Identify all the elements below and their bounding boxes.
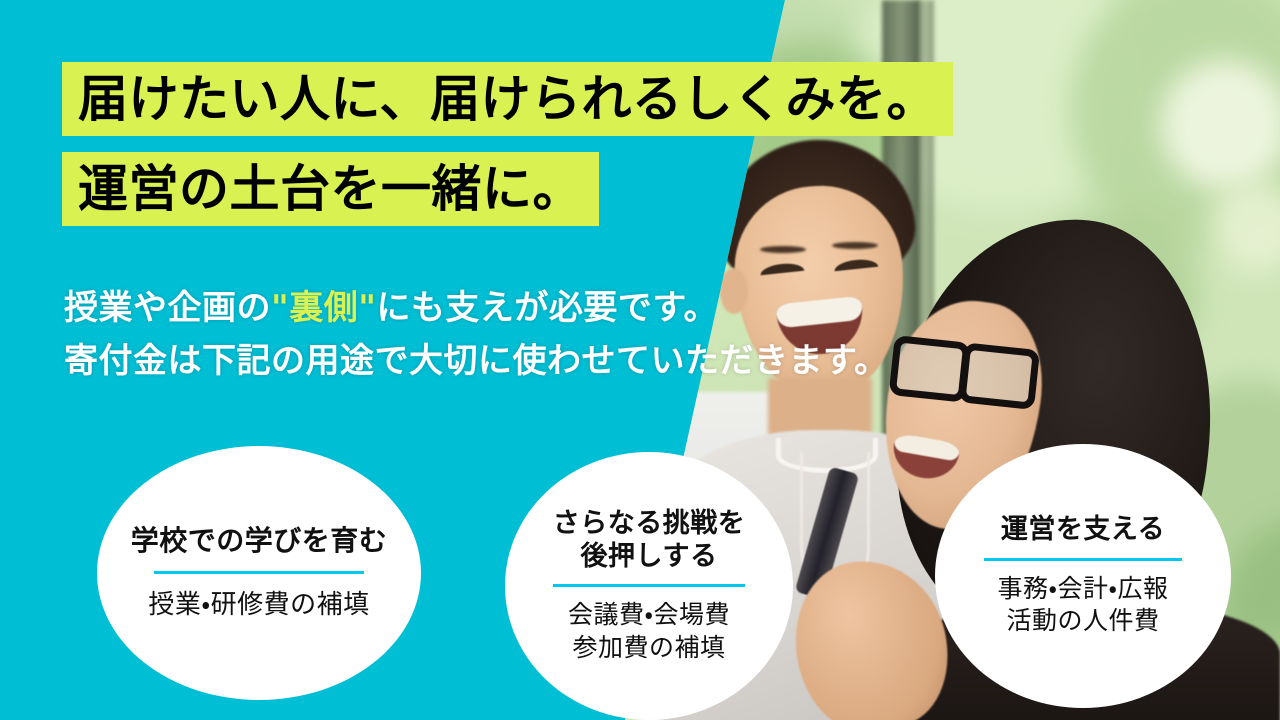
subtitle-line-1-prefix: 授業や企画の (64, 288, 271, 328)
card-title: さらなる挑戦を 後押しする (553, 508, 746, 574)
person-a-brow (832, 242, 878, 249)
subtitle-block: 授業や企画の"裏側"にも支えが必要です。 寄付金は下記の用途で大切に使わせていた… (64, 282, 964, 387)
card-body: 授業・研修費の補填 (148, 589, 369, 623)
use-of-funds-card-challenge: さらなる挑戦を 後押しする 会議費・会場費 参加費の補填 (505, 452, 793, 720)
bokeh-blob (1160, 60, 1280, 190)
card-divider (154, 571, 364, 574)
card-body: 会議費・会場費 参加費の補填 (568, 599, 730, 664)
headline-line-1: 届けたい人に、届けられるしくみを。 (78, 74, 937, 124)
card-body: 事務・会計・広報 活動の人件費 (997, 573, 1168, 638)
person-a-brow (760, 246, 806, 253)
subtitle-emphasis: "裏側" (271, 288, 376, 328)
banner-canvas: 届けたい人に、届けられるしくみを。 運営の土台を一緒に。 授業や企画の"裏側"に… (0, 0, 1280, 720)
subtitle-line-1: 授業や企画の"裏側"にも支えが必要です。 (64, 282, 964, 335)
subtitle-line-2: 寄付金は下記の用途で大切に使わせていただきます。 (64, 335, 964, 388)
subtitle-line-1-suffix: にも支えが必要です。 (376, 288, 718, 328)
headline-bar-primary: 届けたい人に、届けられるしくみを。 (62, 62, 953, 136)
card-title: 学校での学びを育む (131, 524, 388, 558)
use-of-funds-card-school: 学校での学びを育む 授業・研修費の補填 (97, 446, 421, 700)
person-b-lens (958, 342, 1040, 410)
card-divider (553, 584, 745, 587)
use-of-funds-card-operations: 運営を支える 事務・会計・広報 活動の人件費 (935, 444, 1231, 708)
card-title: 運営を支える (1001, 514, 1165, 547)
headline-bar-secondary: 運営の土台を一緒に。 (62, 152, 599, 226)
card-divider (984, 558, 1182, 561)
headline-line-2: 運営の土台を一緒に。 (78, 164, 583, 214)
